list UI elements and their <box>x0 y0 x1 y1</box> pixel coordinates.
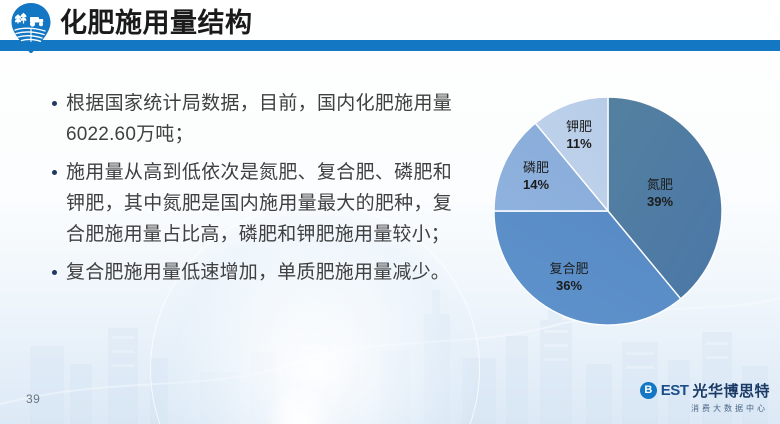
bullet-dot-icon <box>52 170 57 175</box>
list-item: 根据国家统计局数据，目前，国内化肥施用量6022.60万吨； <box>52 88 452 150</box>
agriculture-pin-icon <box>8 2 54 54</box>
bullet-dot-icon <box>52 101 57 106</box>
brand-name-cn: 光华博思特 <box>692 380 770 401</box>
pie-chart-svg <box>493 96 723 326</box>
bullet-text: 施用量从高到低依次是氮肥、复合肥、磷肥和钾肥，其中氮肥是国内施用量最大的肥种，复… <box>66 157 452 250</box>
title-underline-bar <box>0 40 780 51</box>
brand-name-en: EST <box>661 382 689 399</box>
brand-row: B EST 光华博思特 <box>640 380 770 401</box>
list-item: 施用量从高到低依次是氮肥、复合肥、磷肥和钾肥，其中氮肥是国内施用量最大的肥种，复… <box>52 157 452 250</box>
brand-subtitle: 消费大数据中心 <box>691 403 768 414</box>
page-number: 39 <box>26 392 40 406</box>
page-title: 化肥施用量结构 <box>60 6 253 40</box>
slide-header: 化肥施用量结构 <box>0 0 780 52</box>
background-glow-small <box>265 384 335 424</box>
list-item: 复合肥施用量低速增加，单质肥施用量减少。 <box>52 257 452 288</box>
pie-slices <box>494 97 722 325</box>
brand-logo: B EST 光华博思特 消费大数据中心 <box>640 380 770 414</box>
brand-circle-icon: B <box>640 382 657 399</box>
bullet-dot-icon <box>52 270 57 275</box>
bullet-text: 复合肥施用量低速增加，单质肥施用量减少。 <box>66 257 450 288</box>
bullet-text: 根据国家统计局数据，目前，国内化肥施用量6022.60万吨； <box>66 88 452 150</box>
slide: 化肥施用量结构 根据国家统计局数据，目前，国内化肥施用量6022.60万吨； 施… <box>0 0 780 424</box>
bullet-list: 根据国家统计局数据，目前，国内化肥施用量6022.60万吨； 施用量从高到低依次… <box>52 88 452 295</box>
pie-chart: 氮肥 39% 复合肥 36% 磷肥 14% 钾肥 11% <box>493 96 723 326</box>
